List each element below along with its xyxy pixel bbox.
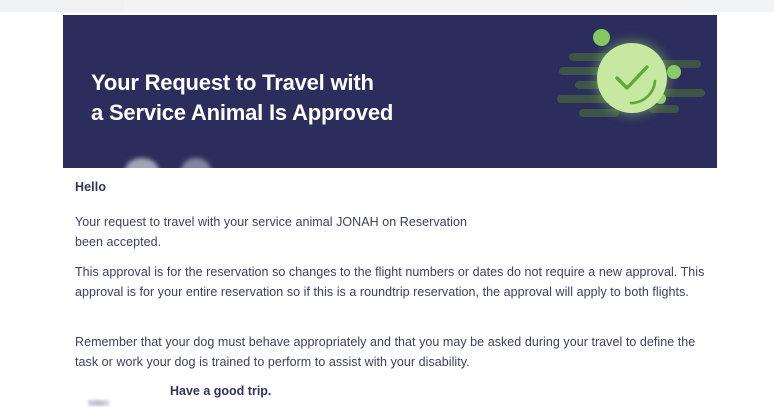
speed-line xyxy=(661,89,705,97)
paragraph-dog-behavior: Remember that your dog must behave appro… xyxy=(75,332,709,372)
email-body: Your Request to Travel with a Service An… xyxy=(0,12,774,407)
banner-bottom-shape xyxy=(181,158,211,168)
email-header-banner: Your Request to Travel with a Service An… xyxy=(63,15,717,168)
banner-title: Your Request to Travel with a Service An… xyxy=(91,68,541,128)
closing-text: Have a good trip. xyxy=(170,384,271,398)
checkmark-icon xyxy=(597,43,667,113)
paragraph-approval-scope: This approval is for the reservation so … xyxy=(75,262,707,302)
decorative-dot xyxy=(667,65,681,79)
approved-check-graphic xyxy=(557,27,707,137)
browser-top-strip xyxy=(0,0,774,12)
paragraph-reservation: Your request to travel with your service… xyxy=(75,212,715,252)
banner-title-line-1: Your Request to Travel with xyxy=(91,70,374,95)
paragraph-reservation-line-1: Your request to travel with your service… xyxy=(75,212,493,232)
greeting-text: Hello xyxy=(75,180,106,194)
render-artifact xyxy=(88,400,110,406)
banner-title-line-2: a Service Animal Is Approved xyxy=(91,98,541,128)
banner-bottom-shape xyxy=(125,158,159,168)
paragraph-reservation-line-2: been accepted. xyxy=(75,235,161,249)
